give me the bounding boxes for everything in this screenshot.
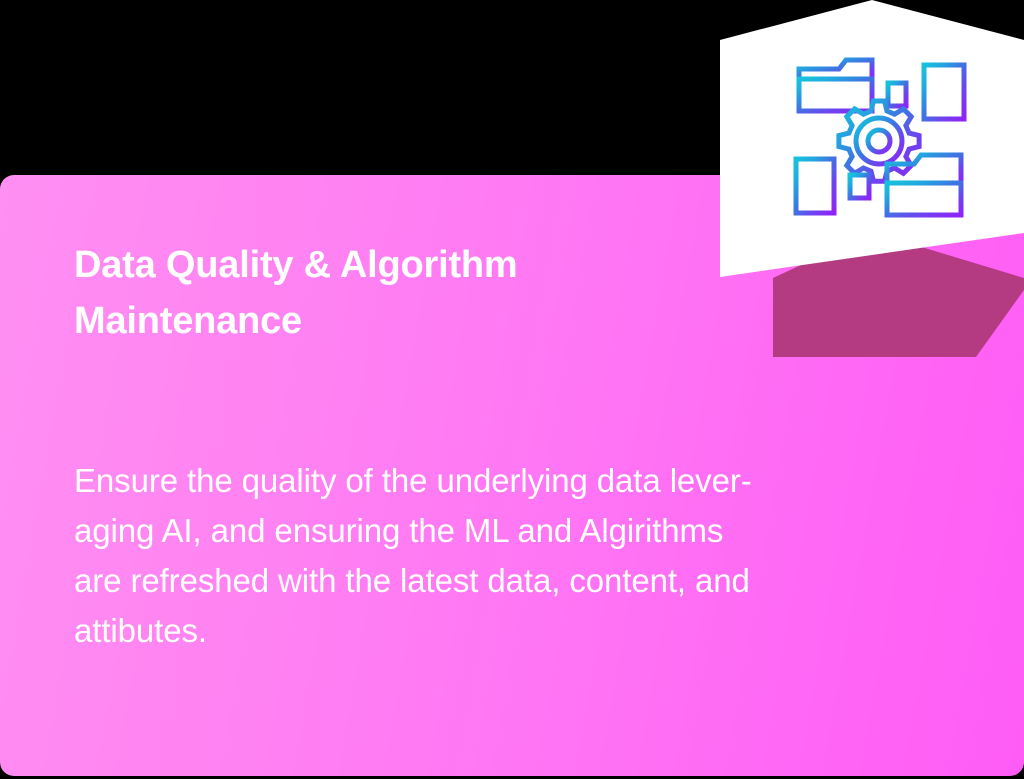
folder-bottom-right-icon [887,155,961,215]
slide-canvas: Data Quality & Algorithm Maintenance Ens… [0,0,1024,779]
folder-top-left-icon [799,60,872,111]
document-top-right-icon [924,65,964,119]
card-description: Ensure the quality of the underlying dat… [74,456,984,656]
connector-node-top-icon [888,83,906,106]
info-card: Data Quality & Algorithm Maintenance Ens… [0,175,1024,776]
document-bottom-left-icon [796,159,834,213]
card-title: Data Quality & Algorithm Maintenance [74,237,644,349]
connector-node-bottom-icon [850,175,869,198]
data-pipeline-gear-icon [793,57,969,223]
gear-center-icon [839,101,919,181]
